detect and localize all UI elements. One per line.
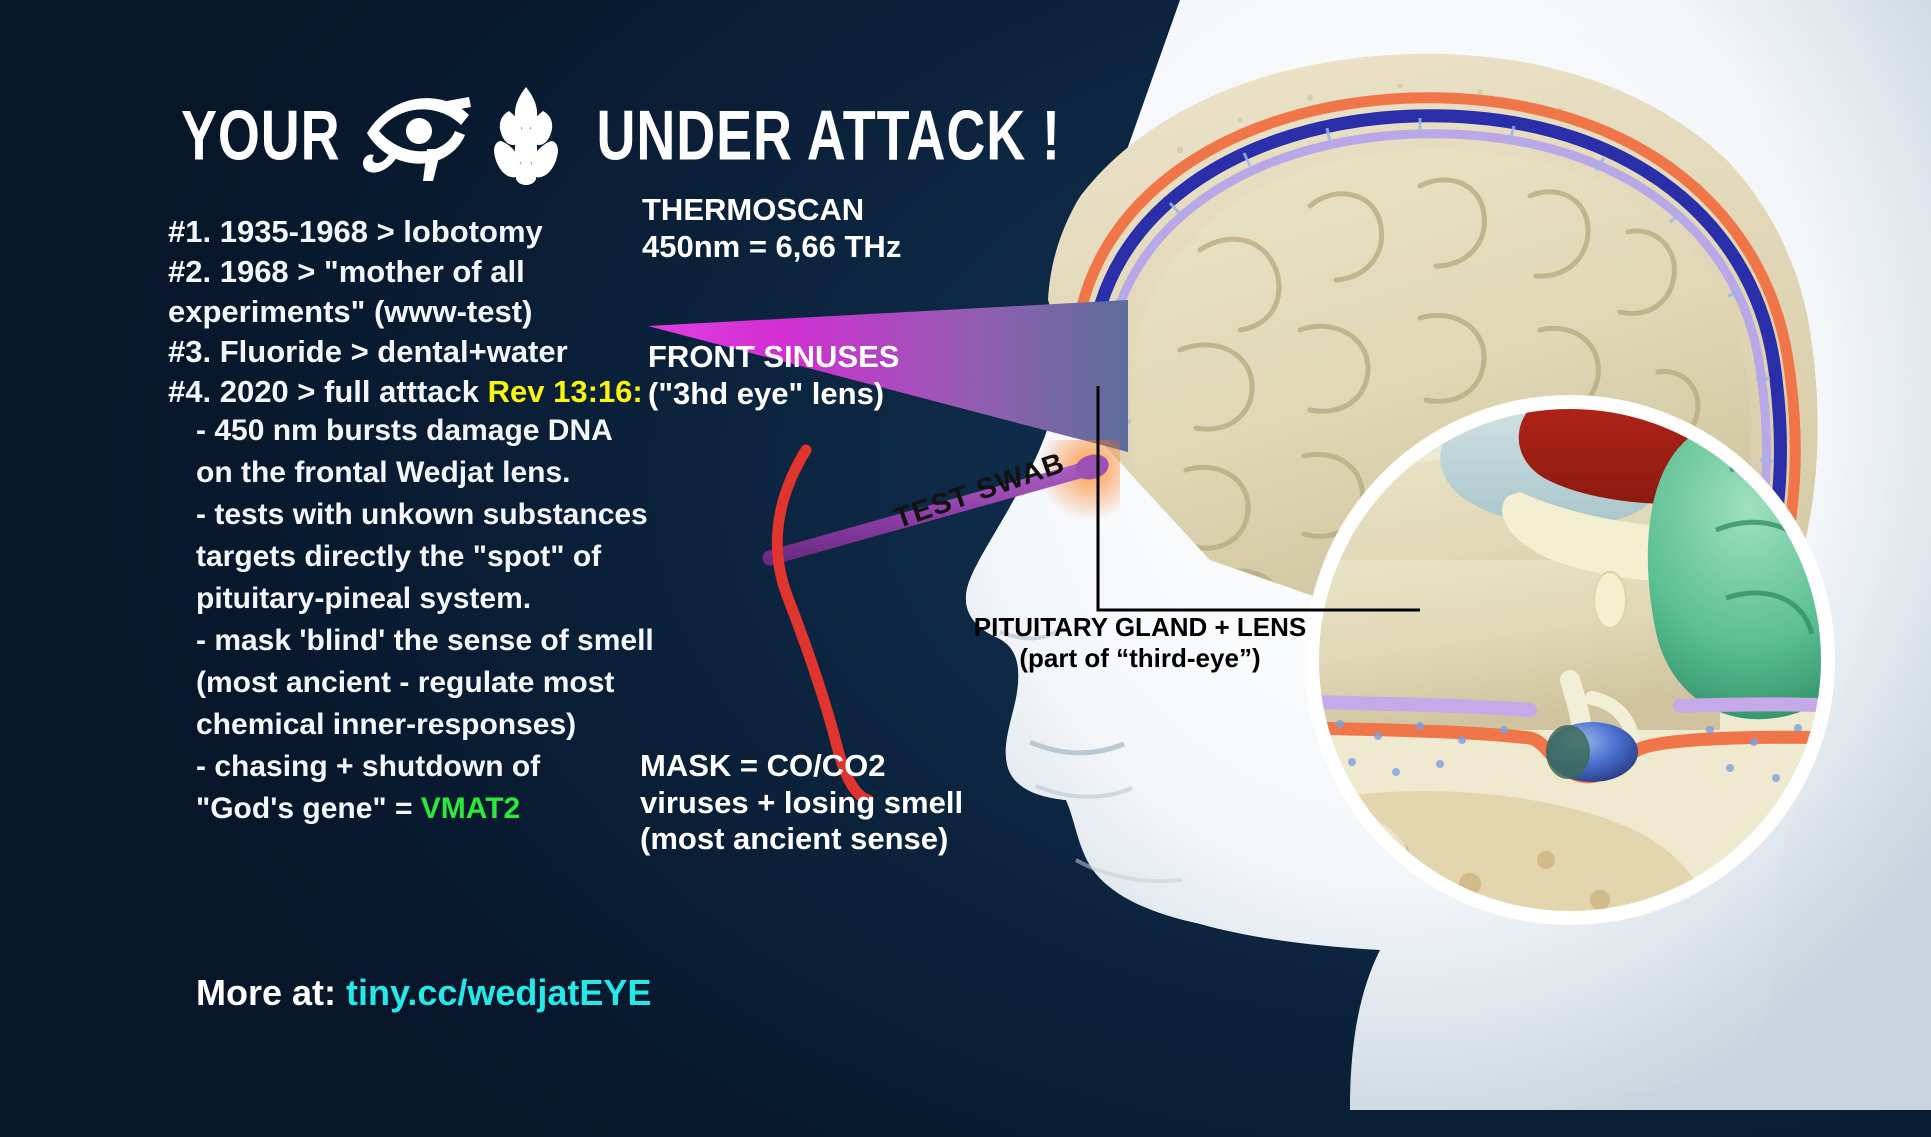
bullet-text: - mask 'blind' the sense of smell xyxy=(196,624,654,657)
poster-title: YOUR xyxy=(175,92,1078,178)
text-column: YOUR xyxy=(0,0,880,1137)
bullet-item: targets directly the "spot" of xyxy=(196,537,816,577)
more-link-url[interactable]: tiny.cc/wedjatEYE xyxy=(346,972,651,1013)
thermoscan-line-1: THERMOSCAN xyxy=(642,192,901,229)
wedjat-eye-of-horus-icon xyxy=(361,87,473,183)
bullet-item: - tests with unkown substances xyxy=(196,495,816,535)
bullet-item: - mask 'blind' the sense of smell xyxy=(196,621,816,661)
bullet-item: - 450 nm bursts damage DNA xyxy=(196,411,816,451)
mask-line-3: (most ancient sense) xyxy=(640,821,963,858)
pituitary-line-2: (part of “third-eye”) xyxy=(925,643,1355,674)
bullet-text: on the frontal Wedjat lens. xyxy=(196,456,570,489)
pituitary-gland-annotation: PITUITARY GLAND + LENS (part of “third-e… xyxy=(925,612,1355,673)
bullet-text: - 450 nm bursts damage DNA xyxy=(196,414,613,447)
mask-line-1: MASK = CO/CO2 xyxy=(640,748,963,785)
list-item: experiments" (www-test) xyxy=(168,292,768,332)
pituitary-line-1: PITUITARY GLAND + LENS xyxy=(925,612,1355,643)
bullet-text: - tests with unkown substances xyxy=(196,498,648,531)
front-sinuses-line-1: FRONT SINUSES xyxy=(648,339,899,376)
front-sinuses-line-2: ("3hd eye" lens) xyxy=(648,376,899,413)
pinecone-pineal-icon xyxy=(487,85,565,185)
bullet-item: (most ancient - regulate most xyxy=(196,663,816,703)
more-prefix: More at: xyxy=(196,972,346,1013)
title-word-your: YOUR xyxy=(181,94,341,176)
list-item-text: #4. 2020 > full atttack xyxy=(168,374,488,409)
bullet-text: targets directly the "spot" of xyxy=(196,540,601,573)
thermoscan-annotation: THERMOSCAN 450nm = 6,66 THz xyxy=(642,192,901,265)
list-item-text: #1. 1935-1968 > lobotomy xyxy=(168,214,543,249)
mask-annotation: MASK = CO/CO2 viruses + losing smell (mo… xyxy=(640,748,963,858)
list-item-text: #2. 1968 > "mother of all xyxy=(168,254,525,289)
list-item-text: #3. Fluoride > dental+water xyxy=(168,334,568,369)
bullet-item: pituitary-pineal system. xyxy=(196,579,816,619)
title-word-under-attack: UNDER ATTACK ! xyxy=(596,94,1060,176)
infographic-poster: YOUR xyxy=(0,0,1931,1137)
bible-verse-highlight: Rev 13:16: xyxy=(488,374,643,409)
bullet-text: pituitary-pineal system. xyxy=(196,582,531,615)
bullet-item: chemical inner-responses) xyxy=(196,705,816,745)
mask-line-2: viruses + losing smell xyxy=(640,785,963,822)
vmat2-highlight: VMAT2 xyxy=(421,792,520,825)
bullet-text: - chasing + shutdown of xyxy=(196,750,540,783)
more-info-line: More at: tiny.cc/wedjatEYE xyxy=(196,972,651,1014)
bullet-item: on the frontal Wedjat lens. xyxy=(196,453,816,493)
bullet-text: (most ancient - regulate most xyxy=(196,666,614,699)
front-sinuses-annotation: FRONT SINUSES ("3hd eye" lens) xyxy=(648,339,899,412)
thermoscan-line-2: 450nm = 6,66 THz xyxy=(642,229,901,266)
bullet-text: "God's gene" = xyxy=(196,792,421,825)
bullet-text: chemical inner-responses) xyxy=(196,708,576,741)
list-item-text: experiments" (www-test) xyxy=(168,294,532,329)
